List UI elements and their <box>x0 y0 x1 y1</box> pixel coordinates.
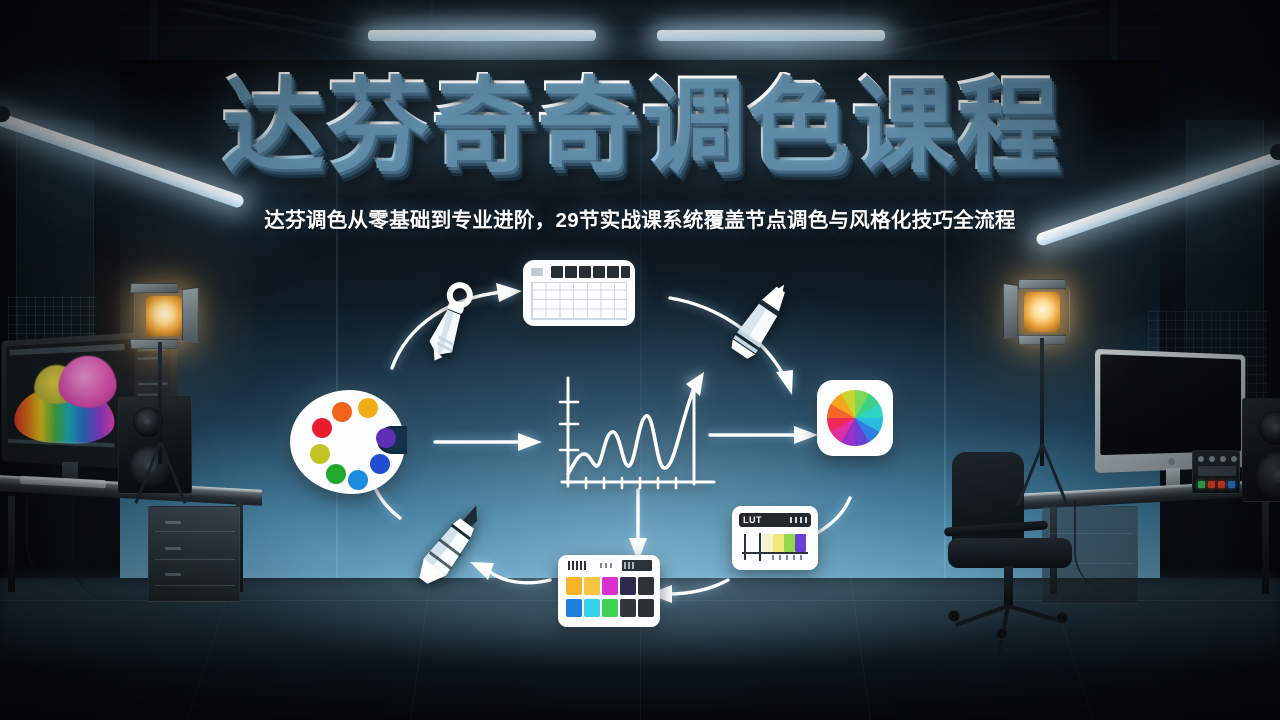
grading-control-surface <box>1192 450 1240 494</box>
palette-dot-green <box>326 464 346 484</box>
palette-dot-yellow <box>358 398 378 418</box>
palette-dot-cyan <box>348 470 368 490</box>
studio-monitor-speaker-right <box>1242 398 1280 502</box>
arrow-palette-to-chart <box>435 433 542 451</box>
file-cabinet-left <box>148 506 240 602</box>
led-green <box>1198 481 1205 488</box>
curve-graph-icon <box>538 362 728 512</box>
led-red-1 <box>1208 481 1215 488</box>
led-red-2 <box>1218 481 1225 488</box>
palette-dot-olive <box>310 444 330 464</box>
imac-logo <box>1168 458 1175 465</box>
poster-canvas: LUT <box>0 0 1280 720</box>
color-grading-workflow: LUT <box>250 250 950 650</box>
page-subtitle: 达芬调色从零基础到专业进阶，29节实战课系统覆盖节点调色与风格化技巧全流程 <box>0 203 1280 233</box>
palette-dot-purple <box>376 428 396 448</box>
page-title: 达芬奇奇调色课程 <box>0 72 1280 175</box>
led-blue <box>1228 481 1235 488</box>
palette-dot-red <box>312 418 332 438</box>
ceiling-tube-left <box>368 30 596 41</box>
studio-monitor-speaker-left <box>118 396 192 494</box>
arrow-lut-to-swatch <box>648 580 728 603</box>
lut-header-label: LUT <box>743 515 762 525</box>
ceiling-tube-right <box>657 30 885 41</box>
palette-dot-orange <box>332 402 352 422</box>
palette-dot-blue <box>370 454 390 474</box>
